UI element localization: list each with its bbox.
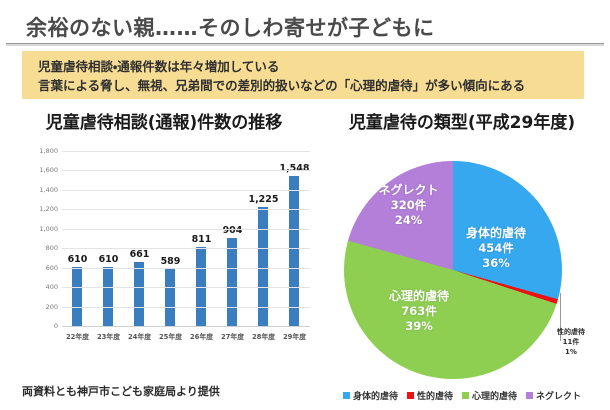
bar-value-label: 589 — [161, 256, 181, 267]
bar-value-label: 1,548 — [279, 163, 309, 174]
y-axis-tick-label: 1,600 — [24, 166, 58, 174]
x-axis-tick-label: 24年度 — [125, 331, 154, 341]
pie-slice-name-neglect: ネグレクト — [361, 183, 456, 198]
pie-slice-count-sexual: 11件 — [544, 337, 598, 347]
callout-line-2: 言葉による脅し、無視、兄弟間での差別的扱いなどの「心理的虐待」が多い傾向にある — [38, 76, 584, 95]
bar-rect — [227, 238, 237, 326]
gridline — [62, 151, 310, 152]
pie-chart-title: 児童虐待の類型(平成29年度) — [316, 108, 608, 133]
gridline — [62, 248, 310, 249]
legend-item: ネグレクト — [526, 389, 581, 402]
bar-rect — [134, 262, 144, 326]
bar-column: 610 — [94, 151, 123, 326]
legend-swatch — [407, 392, 414, 399]
gridline — [62, 287, 310, 288]
bar-value-label: 904 — [223, 225, 243, 236]
pie-slice-percent-sexual: 1% — [544, 347, 598, 357]
bar-chart-plot-area: 6106106615898119041,2251,548 — [62, 151, 310, 327]
pie-chart: 身体的虐待 454件 36% 心理的虐待 763件 39% ネグレクト 320件… — [316, 141, 608, 381]
callout-line-1: 児童虐待相談・通報件数は年々増加している — [38, 57, 584, 76]
bar-column: 589 — [156, 151, 185, 326]
y-axis-tick-label: 800 — [24, 244, 58, 252]
x-axis-tick-label: 28年度 — [249, 331, 278, 341]
summary-callout: 児童虐待相談・通報件数は年々増加している 言葉による脅し、無視、兄弟間での差別的… — [22, 51, 584, 99]
pie-slice-name-psychological: 心理的虐待 — [364, 289, 474, 304]
x-axis-tick-label: 27年度 — [218, 331, 247, 341]
gridline — [62, 170, 310, 171]
gridline — [62, 268, 310, 269]
legend-swatch — [343, 392, 350, 399]
x-axis-tick-label: 26年度 — [187, 331, 216, 341]
pie-slice-count-psychological: 763件 — [364, 304, 474, 319]
pie-slice-count-neglect: 320件 — [361, 198, 456, 213]
bar-chart-x-axis: 22年度23年度24年度25年度26年度27年度28年度29年度 — [62, 331, 310, 341]
title-divider — [6, 43, 604, 46]
pie-slice-label-sexual: 性的虐待 11件 1% — [544, 327, 598, 357]
legend-swatch — [526, 392, 533, 399]
bar-column: 811 — [187, 151, 216, 326]
bar-value-label: 1,225 — [248, 194, 278, 205]
bar-chart: 02004006008001,0001,2001,4001,6001,800 6… — [14, 151, 314, 366]
y-axis-tick-label: 1,200 — [24, 205, 58, 213]
bar-rect — [289, 176, 299, 327]
legend-label: 身体的虐待 — [353, 389, 398, 402]
x-axis-tick-label: 29年度 — [280, 331, 309, 341]
bar-series: 6106106615898119041,2251,548 — [62, 151, 310, 326]
gridline — [62, 209, 310, 210]
bar-column: 661 — [125, 151, 154, 326]
legend-item: 性的虐待 — [407, 389, 453, 402]
pie-slice-label-physical: 身体的虐待 454件 36% — [446, 226, 546, 271]
y-axis-tick-label: 1,800 — [24, 147, 58, 155]
y-axis-tick-label: 200 — [24, 303, 58, 311]
y-axis-tick-label: 0 — [24, 322, 58, 330]
bar-rect — [165, 269, 175, 326]
gridline — [62, 190, 310, 191]
legend-label: ネグレクト — [536, 389, 581, 402]
bar-value-label: 610 — [99, 254, 119, 265]
bar-column: 1,225 — [249, 151, 278, 326]
bar-column: 1,548 — [280, 151, 309, 326]
y-axis-tick-label: 600 — [24, 264, 58, 272]
bar-column: 904 — [218, 151, 247, 326]
legend-label: 心理的虐待 — [472, 389, 517, 402]
pie-slice-percent-psychological: 39% — [364, 319, 474, 334]
pie-slice-count-physical: 454件 — [446, 241, 546, 256]
x-axis-tick-label: 25年度 — [156, 331, 185, 341]
pie-legend: 身体的虐待性的虐待心理的虐待ネグレクト — [316, 389, 608, 402]
bar-rect — [72, 267, 82, 326]
bar-rect — [103, 267, 113, 326]
pie-slice-name-physical: 身体的虐待 — [446, 226, 546, 241]
legend-label: 性的虐待 — [417, 389, 453, 402]
bar-chart-y-axis: 02004006008001,0001,2001,4001,6001,800 — [22, 151, 58, 326]
page-title: 余裕のない親……そのしわ寄せが子どもに — [26, 12, 435, 42]
y-axis-tick-label: 1,400 — [24, 186, 58, 194]
bar-value-label: 610 — [68, 254, 88, 265]
x-axis-tick-label: 22年度 — [63, 331, 92, 341]
pie-slice-percent-neglect: 24% — [361, 213, 456, 228]
pie-slice-percent-physical: 36% — [446, 256, 546, 271]
source-note: 両資料とも神戸市こども家庭局より提供 — [22, 383, 220, 399]
gridline — [62, 307, 310, 308]
y-axis-tick-label: 1,000 — [24, 225, 58, 233]
legend-item: 心理的虐待 — [462, 389, 517, 402]
bar-value-label: 811 — [192, 234, 212, 245]
pie-slice-label-neglect: ネグレクト 320件 24% — [361, 183, 456, 228]
pie-slice-label-psychological: 心理的虐待 763件 39% — [364, 289, 474, 334]
y-axis-tick-label: 400 — [24, 283, 58, 291]
pie-chart-panel: 児童虐待の類型(平成29年度) 身体的虐待 454件 36% 心理的虐待 763… — [316, 108, 608, 381]
bar-chart-title: 児童虐待相談(通報)件数の推移 — [14, 108, 314, 133]
legend-item: 身体的虐待 — [343, 389, 398, 402]
bar-value-label: 661 — [130, 249, 150, 260]
bar-column: 610 — [63, 151, 92, 326]
legend-swatch — [462, 392, 469, 399]
bar-chart-panel: 児童虐待相談(通報)件数の推移 02004006008001,0001,2001… — [14, 108, 314, 366]
bar-rect — [258, 207, 268, 326]
x-axis-tick-label: 23年度 — [94, 331, 123, 341]
gridline — [62, 229, 310, 230]
pie-slice-name-sexual: 性的虐待 — [544, 327, 598, 337]
